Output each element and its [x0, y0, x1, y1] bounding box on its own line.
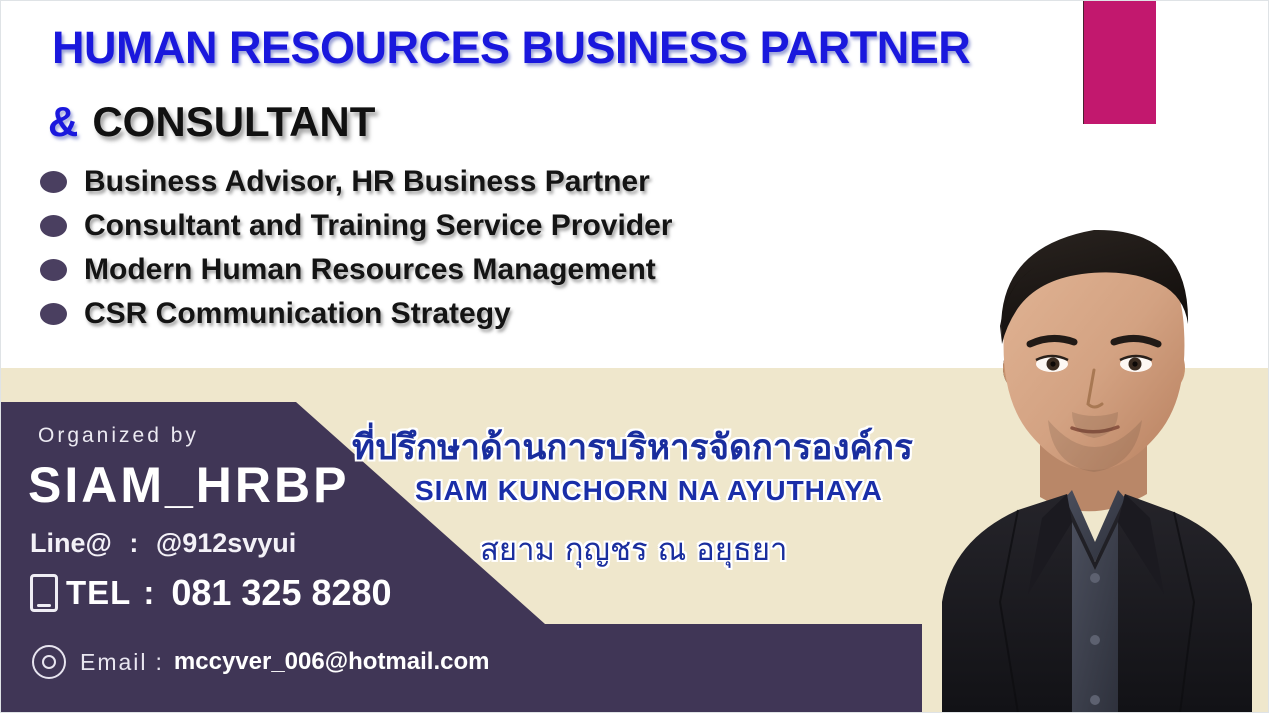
email-address-value[interactable]: mccyver_006@hotmail.com — [174, 648, 490, 676]
bullet-dot-icon — [40, 215, 67, 237]
service-label: Business Advisor, HR Business Partner — [84, 165, 650, 199]
bullet-dot-icon — [40, 171, 67, 193]
magenta-accent-block — [1083, 0, 1156, 124]
page-title: HUMAN RESOURCES BUSINESS PARTNER — [52, 22, 970, 74]
service-label: Modern Human Resources Management — [84, 253, 656, 287]
email-label: Email — [80, 649, 148, 676]
services-list: Business Advisor, HR Business Partner Co… — [40, 160, 672, 336]
tel-number-value[interactable]: 081 325 8280 — [171, 572, 391, 614]
line-id-value[interactable]: @912svyui — [156, 528, 296, 558]
bullet-dot-icon — [40, 259, 67, 281]
tel-separator: : — [143, 574, 155, 612]
subtitle-word: CONSULTANT — [92, 98, 375, 145]
service-label: Consultant and Training Service Provider — [84, 209, 672, 243]
portrait-illustration — [922, 222, 1269, 713]
role-title-thai: ที่ปรึกษาด้านการบริหารจัดการองค์กร — [352, 420, 913, 475]
poster-canvas: HUMAN RESOURCES BUSINESS PARTNER &CONSUL… — [0, 0, 1269, 713]
brand-name: SIAM_HRBP — [28, 456, 349, 514]
mobile-phone-icon — [30, 574, 58, 612]
list-item: Business Advisor, HR Business Partner — [40, 160, 672, 204]
email-row: Email : mccyver_006@hotmail.com — [32, 645, 489, 679]
line-separator: : — [129, 528, 138, 558]
list-item: Consultant and Training Service Provider — [40, 204, 672, 248]
person-name-english: SIAM KUNCHORN NA AYUTHAYA — [415, 475, 883, 507]
line-contact-row: Line@ : @912svyui — [30, 528, 296, 559]
subtitle: &CONSULTANT — [48, 98, 375, 146]
list-item: CSR Communication Strategy — [40, 292, 672, 336]
telephone-row: TEL : 081 325 8280 — [30, 572, 392, 614]
line-label: Line@ — [30, 528, 112, 558]
organized-by-label: Organized by — [38, 424, 199, 448]
portrait-photo — [922, 222, 1269, 713]
at-sign-icon — [32, 645, 66, 679]
tel-label: TEL — [66, 574, 131, 612]
person-name-thai: สยาม กุญชร ณ อยุธยา — [480, 524, 787, 574]
ampersand: & — [48, 98, 78, 145]
service-label: CSR Communication Strategy — [84, 297, 511, 331]
list-item: Modern Human Resources Management — [40, 248, 672, 292]
bullet-dot-icon — [40, 303, 67, 325]
email-separator: : — [156, 649, 164, 676]
